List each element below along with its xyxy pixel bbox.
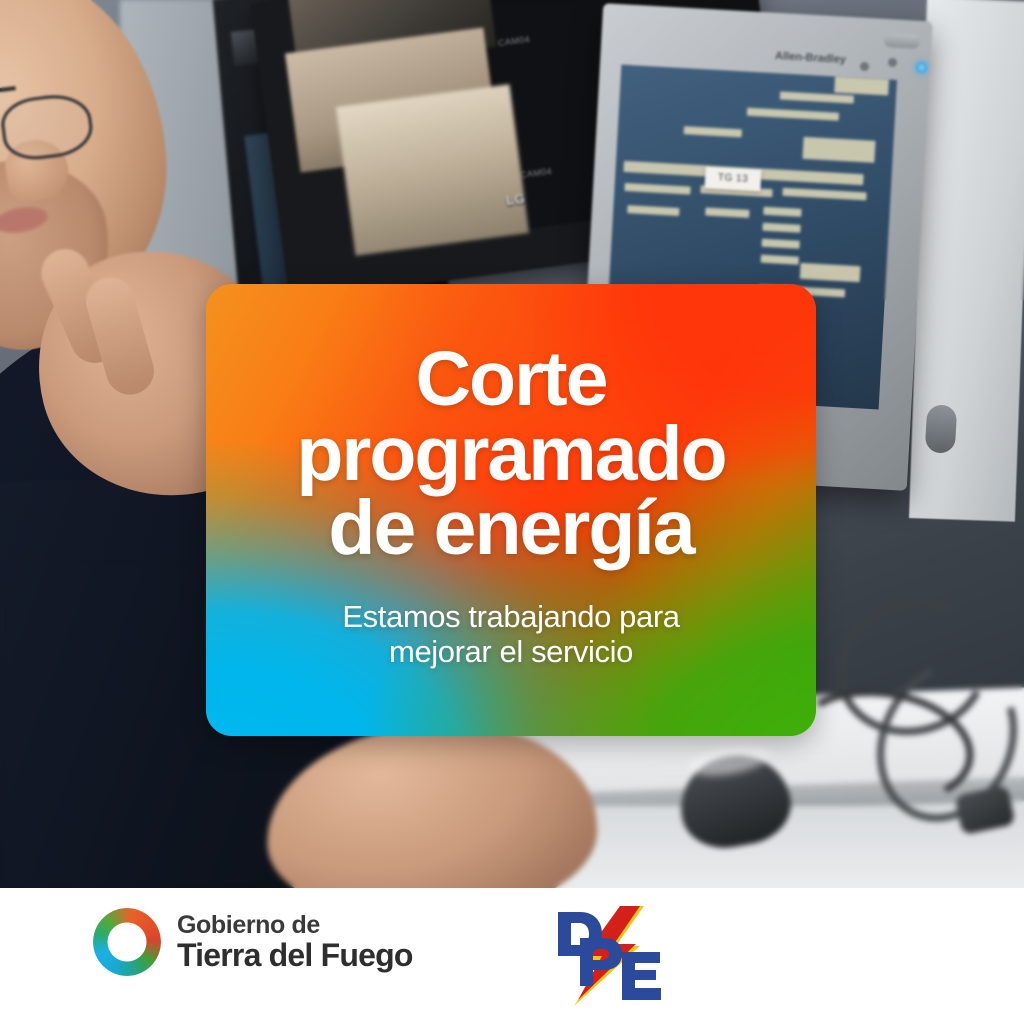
lg-cctv-feed-bottom [336, 84, 529, 256]
government-logo: Gobierno de Tierra del Fuego [93, 908, 413, 976]
dpe-letter-e [622, 952, 661, 1000]
page-title: Corte programado de energía [296, 342, 725, 566]
subtitle-line-2: mejorar el servicio [342, 635, 679, 670]
headline-line-2: programado [296, 417, 725, 492]
gov-logo-line-2: Tierra del Fuego [177, 939, 413, 973]
subtitle-line-1: Estamos trabajando para [342, 600, 679, 635]
lg-brand-label: LG [505, 191, 526, 208]
hmi-side-knob [925, 404, 958, 454]
subtitle: Estamos trabajando para mejorar el servi… [342, 600, 679, 669]
card-content: Corte programado de energía Estamos trab… [206, 284, 816, 736]
footer-bar: Gobierno de Tierra del Fuego [0, 888, 1024, 1024]
tierra-del-fuego-swirl-icon [93, 908, 161, 976]
gov-logo-line-1: Gobierno de [177, 912, 413, 938]
headline-line-3: de energía [296, 491, 725, 566]
ab-logo-badge [884, 33, 921, 49]
government-logo-text: Gobierno de Tierra del Fuego [177, 912, 413, 973]
poster: CAM04 CAM04 LG Allen-Bradley [0, 0, 1024, 1024]
headline-line-1: Corte [296, 342, 725, 417]
message-card: Corte programado de energía Estamos trab… [206, 284, 816, 736]
hmi-tag-label: TG 13 [704, 166, 761, 191]
dpe-logo [548, 904, 668, 1008]
